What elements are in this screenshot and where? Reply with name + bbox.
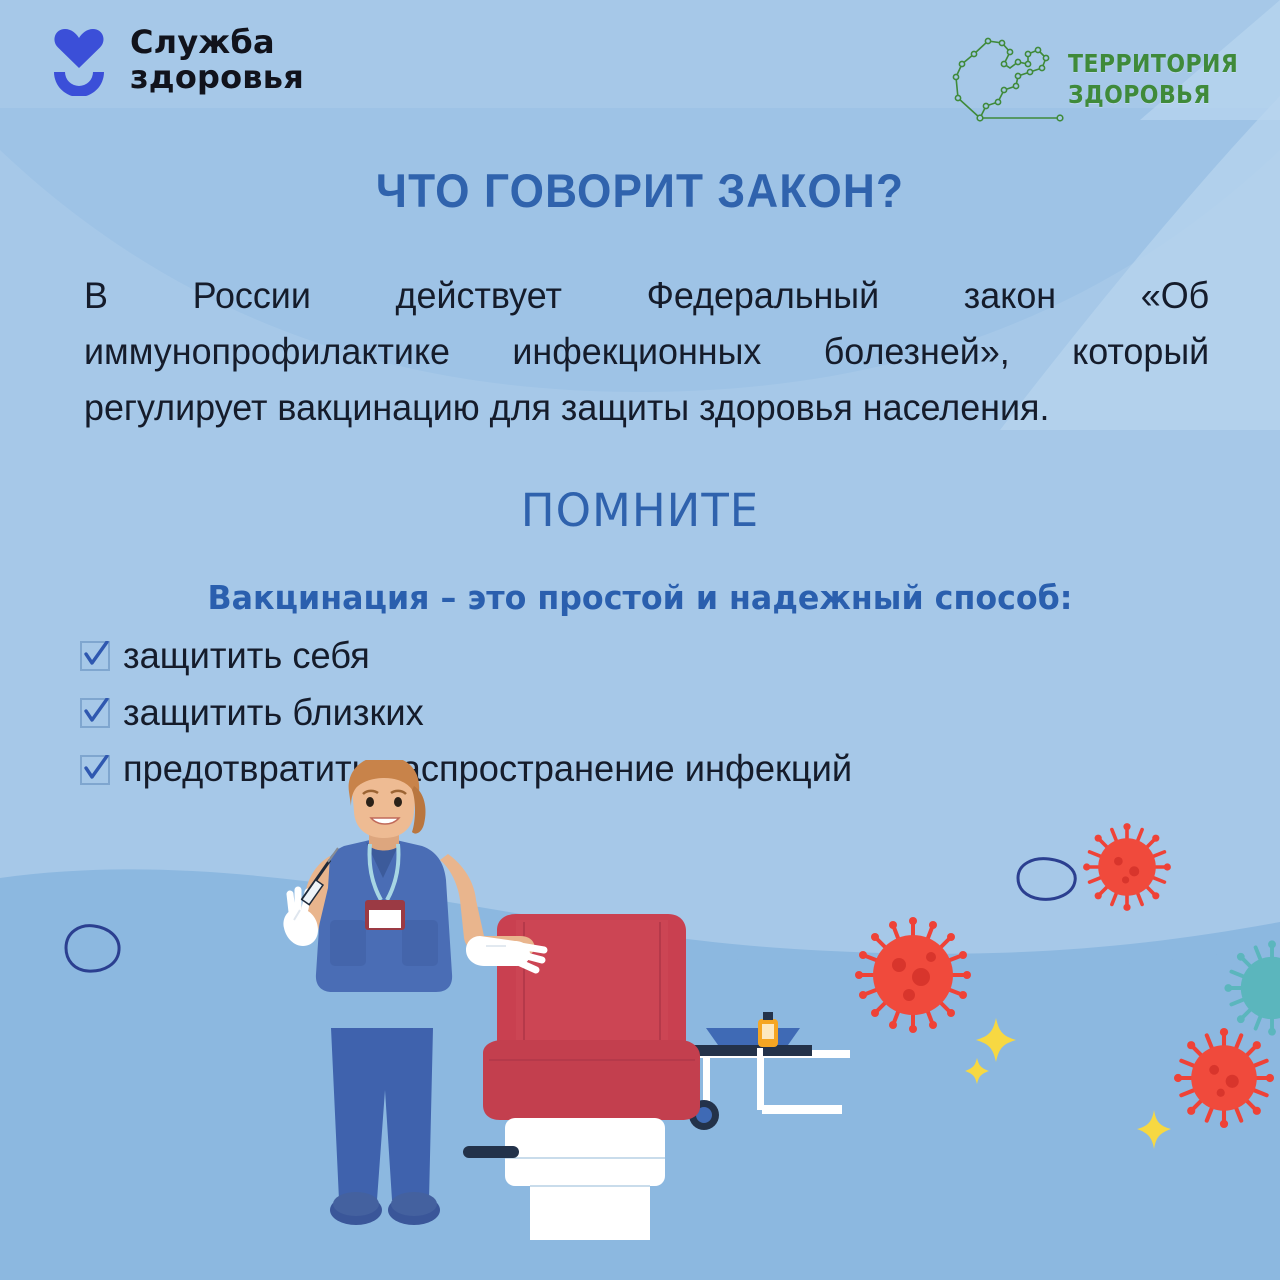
checked-checkbox-icon [80, 641, 110, 671]
chair-lever [463, 1146, 519, 1158]
sparkle-icon [976, 1018, 1016, 1062]
brand-line-1: Служба [130, 23, 275, 61]
list-item: защитить близких [80, 693, 1180, 734]
medicine-bottle-icon [758, 1012, 778, 1047]
remember-subheading: Вакцинация – это простой и надежный спос… [26, 578, 1255, 617]
list-item: защитить себя [80, 636, 1180, 677]
vaccination-illustration [0, 760, 1280, 1280]
sparkle-icon [965, 1058, 989, 1084]
id-badge-icon [365, 900, 405, 930]
virus-particle [1174, 1028, 1274, 1128]
territory-name: ТЕРРИТОРИЯ ЗДОРОВЬЯ [1068, 51, 1238, 107]
checklist-label: защитить близких [123, 693, 424, 734]
checked-checkbox-icon [80, 698, 110, 728]
virus-particle [1224, 940, 1280, 1035]
dotted-region-map-icon [944, 24, 1064, 134]
virus-particle [855, 917, 971, 1033]
eye [394, 797, 402, 807]
territory-line-2: ЗДОРОВЬЯ [1068, 82, 1238, 107]
law-paragraph: В России действует Федеральный закон «Об… [84, 268, 1209, 437]
brand-line-2: здоровья [130, 60, 304, 95]
brand-name: Служба здоровья [130, 25, 304, 94]
brand-logo: Служба здоровья [46, 24, 304, 96]
territory-logo: ТЕРРИТОРИЯ ЗДОРОВЬЯ [944, 24, 1262, 134]
eye [366, 797, 374, 807]
outline-blob [1018, 859, 1075, 900]
heart-smile-icon [46, 24, 112, 96]
remember-heading: ПОМНИТЕ [0, 484, 1280, 537]
nurse-shoe [388, 1192, 440, 1225]
virus-particle [1083, 823, 1171, 911]
page-title: ЧТО ГОВОРИТ ЗАКОН? [38, 163, 1241, 218]
sparkle-icon [1137, 1110, 1171, 1149]
territory-line-1: ТЕРРИТОРИЯ [1068, 51, 1238, 76]
medical-trolley [689, 1012, 850, 1130]
nurse-shoe [330, 1192, 382, 1225]
tray-icon [706, 1028, 800, 1045]
checklist-label: защитить себя [123, 636, 370, 677]
poster-canvas: Служба здоровья [0, 0, 1280, 1280]
outline-blob [66, 926, 119, 971]
